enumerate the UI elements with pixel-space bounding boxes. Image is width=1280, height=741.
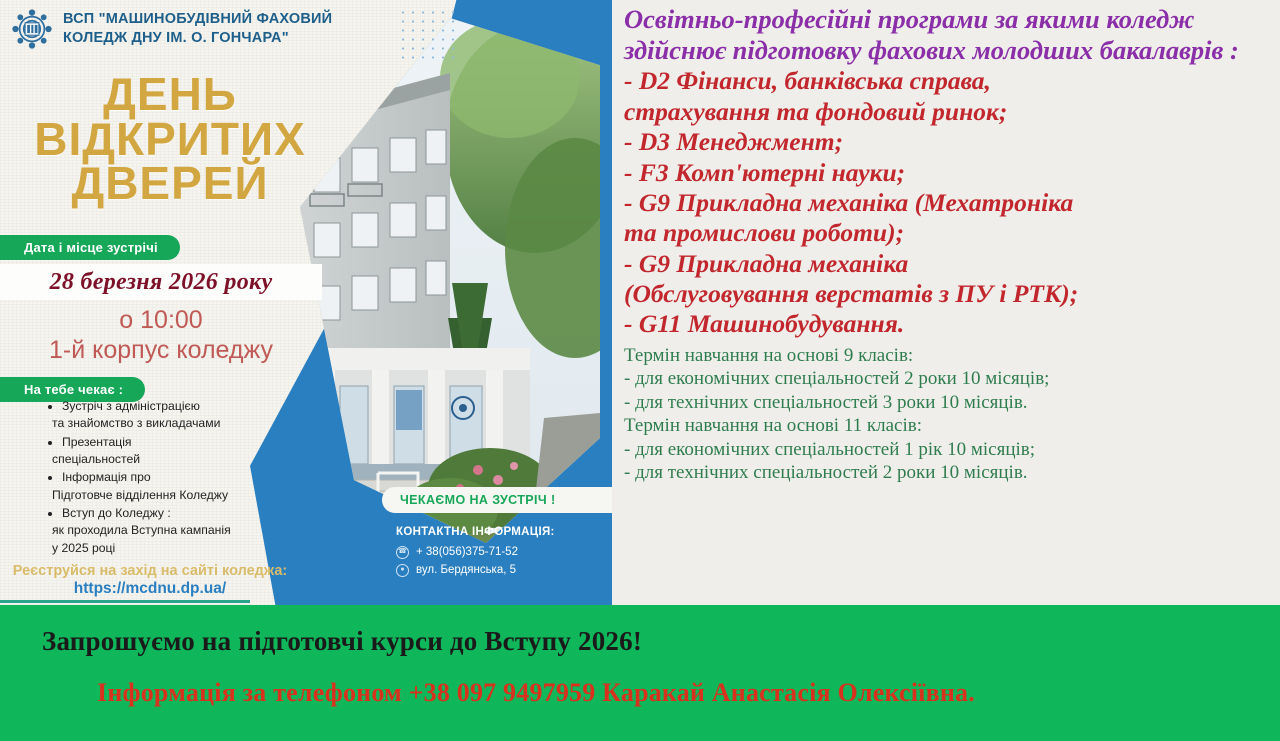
term-line-5: - для технічних спеціальностей 2 роки 10… (624, 461, 1272, 485)
time-place-block: о 10:00 1-й корпус коледжу (0, 305, 322, 366)
expect-list-ul: Зустріч з адміністрацією та знайомство з… (48, 398, 280, 557)
study-terms-list: Термін навчання на основі 9 класів: - дл… (624, 344, 1272, 485)
expect-item-3-sub: як проходила Вступна кампанія (52, 522, 280, 539)
expect-item-2-sub: Підготовче відділення Коледжу (52, 487, 280, 504)
contact-phone: + 38(056)375-71-52 (416, 544, 518, 562)
program-line-8: - G11 Машинобудування. (624, 309, 1272, 339)
poster-canvas: ВСП "МАШИНОБУДІВНИЙ ФАХОВИЙ КОЛЕДЖ ДНУ І… (0, 0, 1280, 741)
blue-bottom-strip (296, 590, 560, 604)
expect-item-2-main: Інформація про (62, 470, 151, 484)
college-logo-text: ВСП "МАШИНОБУДІВНИЙ ФАХОВИЙ КОЛЕДЖ ДНУ І… (63, 10, 332, 47)
banner-line-1: Запрошуємо на підготовчі курси до Вступу… (42, 626, 642, 657)
phone-icon: ☎ (396, 546, 409, 559)
expect-item-3-sub2: у 2025 році (52, 540, 280, 557)
title-line-3: ДВЕРЕЙ (0, 161, 340, 206)
flyer-card: ВСП "МАШИНОБУДІВНИЙ ФАХОВИЙ КОЛЕДЖ ДНУ І… (0, 0, 612, 605)
logo-line-2: КОЛЕДЖ ДНУ ІМ. О. ГОНЧАРА" (63, 30, 289, 46)
term-line-3: Термін навчання на основі 11 класів: (624, 414, 1272, 438)
program-line-6: - G9 Прикладна механіка (624, 249, 1272, 279)
term-line-4: - для економічних спеціальностей 1 рік 1… (624, 438, 1272, 462)
banner-line-2: Інформація за телефоном +38 097 9497959 … (97, 678, 975, 708)
list-item: Інформація про Підготовче відділення Кол… (62, 469, 280, 504)
program-line-3: - F3 Комп'ютерні науки; (624, 158, 1272, 188)
term-line-0: Термін навчання на основі 9 класів: (624, 344, 1272, 368)
expect-item-0-main: Зустріч з адміністрацією (62, 399, 200, 413)
program-line-4: - G9 Прикладна механіка (Мехатроніка (624, 188, 1272, 218)
date-value: 28 березня 2026 року (50, 269, 273, 296)
teal-separator-left (0, 600, 250, 603)
program-line-1: страхування та фондовий ринок; (624, 97, 1272, 127)
program-line-5: та промислови роботи); (624, 218, 1272, 248)
expect-item-3-main: Вступ до Коледжу : (62, 506, 171, 520)
program-line-0: - D2 Фінанси, банківська справа, (624, 66, 1272, 96)
expect-item-1-sub: спеціальностей (52, 451, 280, 468)
term-line-2: - для технічних спеціальностей 3 роки 10… (624, 391, 1272, 415)
bottom-banner: Запрошуємо на підготовчі курси до Вступу… (0, 605, 1280, 741)
list-item: Презентація спеціальностей (62, 434, 280, 469)
programs-list: - D2 Фінанси, банківська справа, страхув… (624, 66, 1272, 339)
expect-item-0-sub: та знайомство з викладачами (52, 415, 280, 432)
page-title: ДЕНЬ ВІДКРИТИХ ДВЕРЕЙ (0, 72, 340, 206)
location-pin-icon: ● (396, 564, 409, 577)
date-value-band: 28 березня 2026 року (0, 264, 322, 300)
register-url-link[interactable]: https://mcdnu.dp.ua/ (0, 580, 300, 598)
program-line-7: (Обслуговування верстатів з ПУ і РТК); (624, 279, 1272, 309)
register-text: Реєструйся на захід на сайті коледжа: (0, 562, 300, 582)
list-item: Вступ до Коледжу : як проходила Вступна … (62, 505, 280, 557)
logo-line-1: ВСП "МАШИНОБУДІВНИЙ ФАХОВИЙ (63, 11, 332, 27)
event-time: о 10:00 (0, 305, 322, 335)
program-line-2: - D3 Менеджмент; (624, 127, 1272, 157)
programs-panel: Освітньо-професійні програми за якими ко… (612, 0, 1280, 605)
contact-address-row: ● вул. Бердянська, 5 (396, 562, 555, 580)
list-item: Зустріч з адміністрацією та знайомство з… (62, 398, 280, 433)
title-line-1: ДЕНЬ (0, 72, 340, 117)
gear-emblem-icon (10, 7, 54, 51)
expect-item-1-main: Презентація (62, 435, 132, 449)
college-logo: ВСП "МАШИНОБУДІВНИЙ ФАХОВИЙ КОЛЕДЖ ДНУ І… (10, 7, 332, 51)
dot-pattern-decoration (398, 8, 460, 60)
contact-address: вул. Бердянська, 5 (416, 562, 516, 580)
term-line-1: - для економічних спеціальностей 2 роки … (624, 367, 1272, 391)
contact-phone-row[interactable]: ☎ + 38(056)375-71-52 (396, 544, 555, 562)
date-place-pill: Дата і місце зустрічі (0, 235, 180, 260)
programs-heading: Освітньо-професійні програми за якими ко… (624, 4, 1272, 65)
contact-heading: КОНТАКТНА ІНФОРМАЦІЯ: (396, 524, 555, 542)
title-line-2: ВІДКРИТИХ (0, 117, 340, 162)
event-place: 1-й корпус коледжу (0, 335, 322, 366)
contact-info: КОНТАКТНА ІНФОРМАЦІЯ: ☎ + 38(056)375-71-… (396, 524, 555, 579)
expect-list: Зустріч з адміністрацією та знайомство з… (48, 398, 280, 558)
meet-us-pill: ЧЕКАЄМО НА ЗУСТРІЧ ! (382, 487, 572, 513)
